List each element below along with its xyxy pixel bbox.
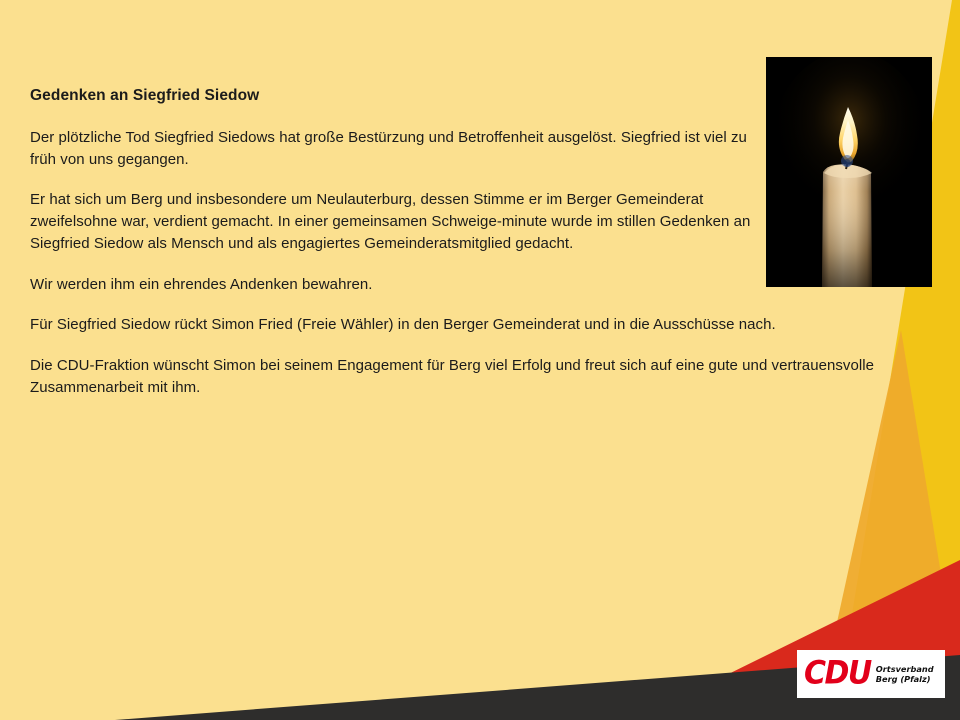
- cdu-subtitle-line2: Berg (Pfalz): [876, 674, 931, 684]
- text-block: Gedenken an Siegfried Siedow Der plötzli…: [30, 86, 740, 399]
- cdu-logo: CDU Ortsverband Berg (Pfalz): [797, 650, 945, 698]
- candle-photo: [766, 57, 932, 287]
- cdu-subtitle-line1: Ortsverband: [876, 664, 934, 674]
- paragraph-2: Er hat sich um Berg und insbesondere um …: [30, 189, 768, 254]
- slide-canvas: Gedenken an Siegfried Siedow Der plötzli…: [0, 0, 960, 720]
- page-title: Gedenken an Siegfried Siedow: [30, 86, 740, 107]
- cdu-subtitle: Ortsverband Berg (Pfalz): [876, 664, 934, 685]
- paragraph-4: Für Siegfried Siedow rückt Simon Fried (…: [30, 314, 802, 336]
- paragraph-1: Der plötzliche Tod Siegfried Siedows hat…: [30, 127, 770, 171]
- paragraph-3: Wir werden ihm ein ehrendes Andenken bew…: [30, 274, 770, 296]
- paragraph-5: Die CDU-Fraktion wünscht Simon bei seine…: [30, 355, 890, 399]
- cdu-wordmark: CDU: [804, 658, 871, 690]
